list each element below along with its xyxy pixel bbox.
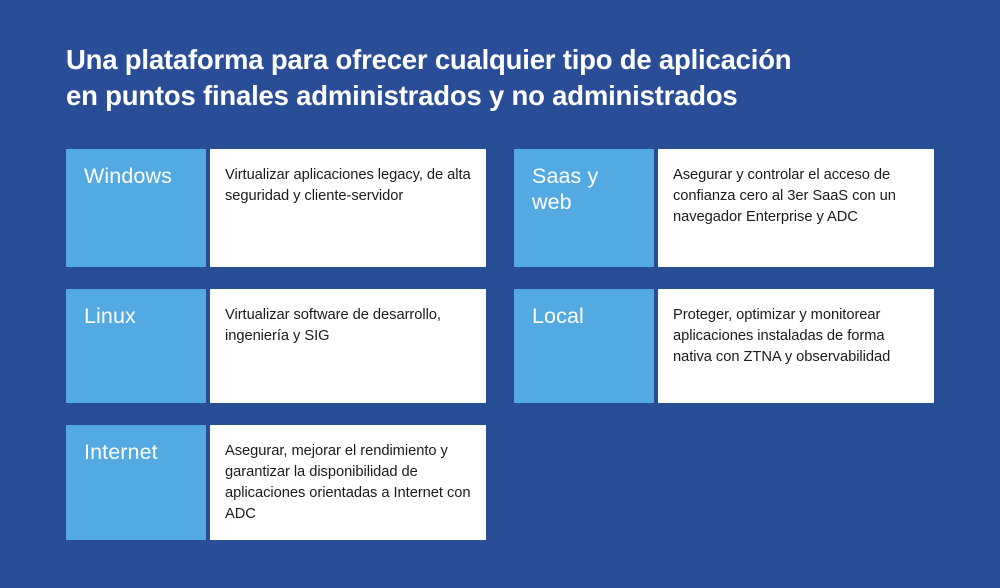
- card-linux: Linux Virtualizar software de desarrollo…: [66, 289, 486, 403]
- card-label-saas-y-web: Saas y web: [514, 149, 654, 267]
- page-title-line-1: Una plataforma para ofrecer cualquier ti…: [66, 42, 956, 78]
- card-label-linux: Linux: [66, 289, 206, 403]
- card-saas-y-web: Saas y web Asegurar y controlar el acces…: [514, 149, 934, 267]
- card-label-windows: Windows: [66, 149, 206, 267]
- card-label-local: Local: [514, 289, 654, 403]
- card-body-linux: Virtualizar software de desarrollo, inge…: [210, 289, 486, 403]
- page-title-line-2: en puntos finales administrados y no adm…: [66, 78, 956, 114]
- card-windows: Windows Virtualizar aplicaciones legacy,…: [66, 149, 486, 267]
- card-body-local: Proteger, optimizar y monitorear aplicac…: [658, 289, 934, 403]
- card-internet: Internet Asegurar, mejorar el rendimient…: [66, 425, 486, 540]
- card-label-internet: Internet: [66, 425, 206, 540]
- card-local: Local Proteger, optimizar y monitorear a…: [514, 289, 934, 403]
- slide-root: Una plataforma para ofrecer cualquier ti…: [0, 0, 1000, 588]
- card-body-internet: Asegurar, mejorar el rendimiento y garan…: [210, 425, 486, 540]
- page-title: Una plataforma para ofrecer cualquier ti…: [66, 42, 956, 114]
- card-body-saas-y-web: Asegurar y controlar el acceso de confia…: [658, 149, 934, 267]
- card-body-windows: Virtualizar aplicaciones legacy, de alta…: [210, 149, 486, 267]
